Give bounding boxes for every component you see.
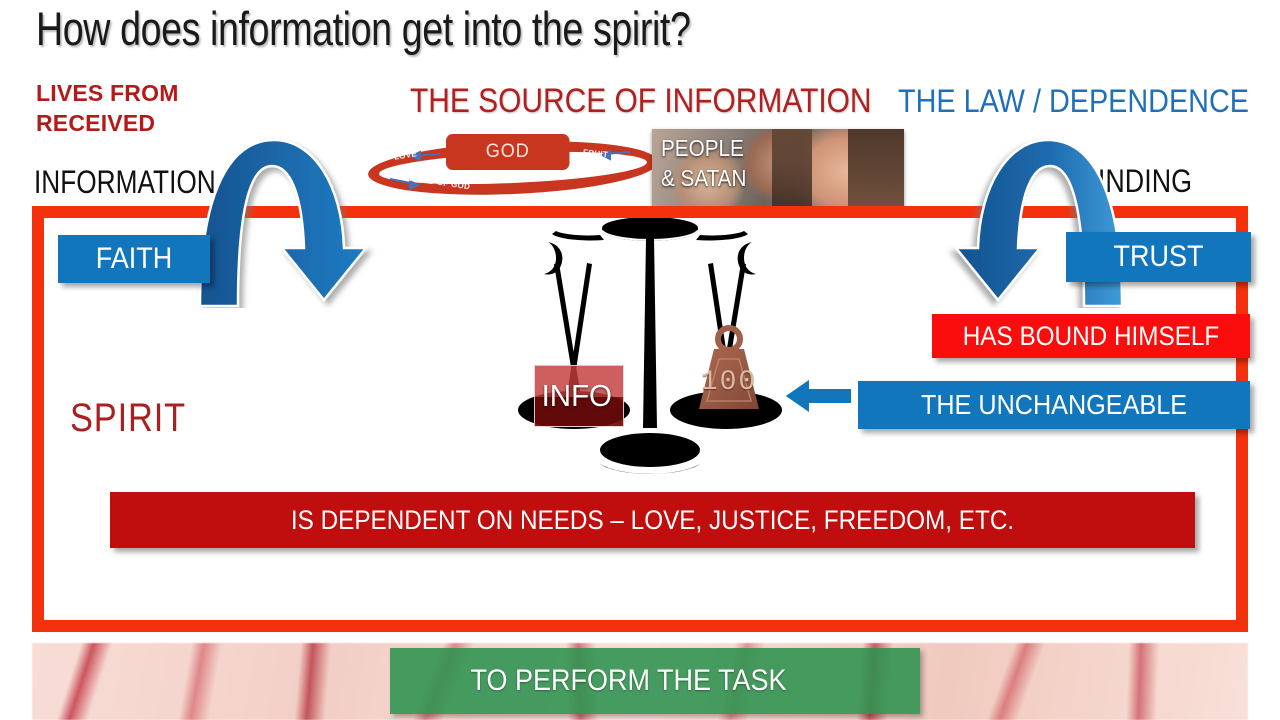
has-bound-himself-label: HAS BOUND HIMSELF <box>948 314 1234 358</box>
dependent-on-needs-label: IS DEPENDENT ON NEEDS – LOVE, JUSTICE, F… <box>164 492 1141 548</box>
information-label: INFORMATION <box>34 164 216 201</box>
dependent-on-needs-banner[interactable]: IS DEPENDENT ON NEEDS – LOVE, JUSTICE, F… <box>110 492 1195 548</box>
left-incoming-arrow-icon <box>196 128 436 308</box>
trust-badge-label: TRUST <box>1075 232 1242 282</box>
info-plate-label: INFO <box>535 366 619 426</box>
info-plate: INFO <box>534 365 624 427</box>
faith-badge-label: FAITH <box>66 235 203 283</box>
photo-figure-mid <box>772 129 812 206</box>
has-bound-himself-badge[interactable]: HAS BOUND HIMSELF <box>932 314 1250 358</box>
trust-badge[interactable]: TRUST <box>1066 232 1251 282</box>
the-unchangeable-label: THE UNCHANGEABLE <box>878 381 1231 429</box>
slide-canvas: How does information get into the spirit… <box>0 0 1280 720</box>
source-of-information-header: THE SOURCE OF INFORMATION <box>410 82 872 121</box>
perform-the-task-label: TO PERFORM THE TASK <box>390 648 867 714</box>
faith-badge[interactable]: FAITH <box>58 235 210 283</box>
spirit-label: SPIRIT <box>70 396 186 441</box>
the-unchangeable-badge[interactable]: THE UNCHANGEABLE <box>858 381 1250 429</box>
page-title: How does information get into the spirit… <box>36 3 691 55</box>
scale-weight: 100 <box>683 323 775 415</box>
law-dependence-header: THE LAW / DEPENDENCE <box>898 83 1249 120</box>
left-pointing-arrow-icon <box>782 372 854 420</box>
god-label: GOD <box>446 134 570 170</box>
people-and-satan-photo: PEOPLE & SATAN <box>652 129 904 206</box>
people-and-satan-caption: PEOPLE & SATAN <box>661 133 747 193</box>
perform-the-task-banner[interactable]: TO PERFORM THE TASK <box>390 648 920 714</box>
weight-value-label: 100 <box>683 367 775 398</box>
